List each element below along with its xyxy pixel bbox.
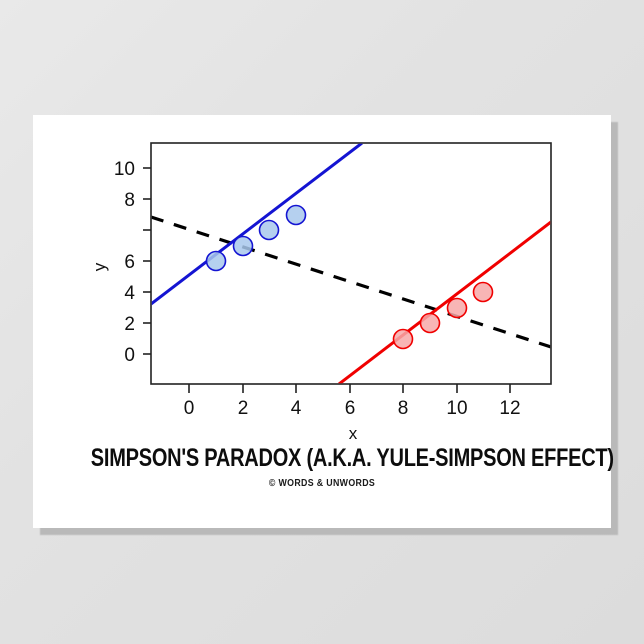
data-point bbox=[287, 206, 306, 225]
x-tick-label: 12 bbox=[499, 398, 520, 419]
data-point bbox=[394, 330, 413, 349]
chart-svg: 10 8 6 4 2 0 0 bbox=[33, 115, 611, 445]
y-tick-label: 4 bbox=[124, 283, 135, 304]
data-point bbox=[234, 237, 253, 256]
y-tick-label: 6 bbox=[124, 252, 135, 273]
x-axis-label: x bbox=[349, 424, 358, 443]
data-point bbox=[421, 314, 440, 333]
poster-page: 10 8 6 4 2 0 0 bbox=[0, 0, 644, 644]
y-axis-ticks bbox=[143, 168, 151, 354]
data-point bbox=[474, 283, 493, 302]
data-point bbox=[448, 299, 467, 318]
credit-line: © WORDS & UNWORDS bbox=[68, 478, 577, 489]
x-tick-label: 4 bbox=[291, 398, 302, 419]
scatter-chart-figure: 10 8 6 4 2 0 0 bbox=[33, 115, 611, 445]
page-title: SIMPSON'S PARADOX (A.K.A. YULE-SIMPSON E… bbox=[91, 445, 553, 471]
x-tick-label: 8 bbox=[398, 398, 409, 419]
y-tick-label: 8 bbox=[124, 190, 135, 211]
x-axis-tick-labels: 0 2 4 6 8 10 12 bbox=[184, 398, 521, 419]
x-tick-label: 0 bbox=[184, 398, 195, 419]
y-tick-label: 10 bbox=[114, 159, 135, 180]
poster-sheet: 10 8 6 4 2 0 0 bbox=[33, 115, 611, 528]
y-tick-label: 2 bbox=[124, 314, 135, 335]
x-axis-ticks bbox=[189, 384, 510, 393]
poster-caption: SIMPSON'S PARADOX (A.K.A. YULE-SIMPSON E… bbox=[33, 445, 611, 489]
y-axis-label: y bbox=[90, 262, 109, 271]
y-axis-tick-labels: 10 8 6 4 2 0 bbox=[114, 159, 136, 366]
x-tick-label: 2 bbox=[238, 398, 249, 419]
x-tick-label: 10 bbox=[446, 398, 467, 419]
y-tick-label: 0 bbox=[124, 345, 135, 366]
data-point bbox=[207, 252, 226, 271]
data-point bbox=[260, 221, 279, 240]
x-tick-label: 6 bbox=[345, 398, 356, 419]
